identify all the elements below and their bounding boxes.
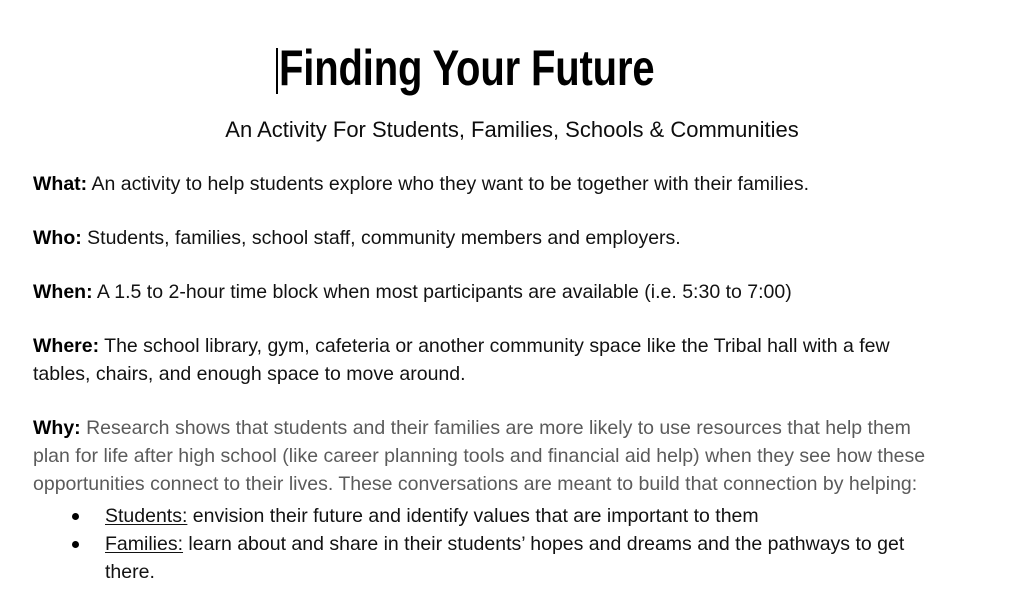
- helping-bullet-list: Students: envision their future and iden…: [33, 502, 945, 586]
- document-page: Finding Your Future An Activity For Stud…: [0, 0, 1024, 614]
- section-text-when: A 1.5 to 2-hour time block when most par…: [93, 281, 792, 303]
- section-text-why: Research shows that students and their f…: [33, 417, 925, 495]
- page-subtitle[interactable]: An Activity For Students, Families, Scho…: [0, 115, 1024, 145]
- section-label-who: Who:: [33, 227, 82, 249]
- section-who[interactable]: Who: Students, families, school staff, c…: [33, 224, 945, 252]
- page-title[interactable]: Finding Your Future: [279, 42, 654, 94]
- text-cursor-caret: [276, 48, 278, 94]
- section-label-why: Why:: [33, 417, 81, 439]
- list-item-text: learn about and share in their students’…: [105, 533, 904, 583]
- section-what[interactable]: What: An activity to help students explo…: [33, 170, 945, 198]
- list-item-term: Families:: [105, 533, 183, 555]
- section-label-where: Where:: [33, 335, 99, 357]
- section-text-what: An activity to help students explore who…: [87, 173, 809, 195]
- section-text-where: The school library, gym, cafeteria or an…: [33, 335, 890, 385]
- document-body: What: An activity to help students explo…: [33, 170, 945, 586]
- list-item[interactable]: Students: envision their future and iden…: [72, 502, 945, 530]
- section-label-what: What:: [33, 173, 87, 195]
- section-why[interactable]: Why: Research shows that students and th…: [33, 414, 945, 498]
- list-item[interactable]: Families: learn about and share in their…: [72, 530, 945, 586]
- bullet-dot-icon: [72, 541, 79, 548]
- document-title-row: Finding Your Future: [0, 42, 1024, 94]
- bullet-dot-icon: [72, 513, 79, 520]
- section-text-who: Students, families, school staff, commun…: [82, 227, 681, 249]
- section-where[interactable]: Where: The school library, gym, cafeteri…: [33, 332, 945, 388]
- list-item-text: envision their future and identify value…: [187, 505, 758, 527]
- section-label-when: When:: [33, 281, 93, 303]
- section-when[interactable]: When: A 1.5 to 2-hour time block when mo…: [33, 278, 945, 306]
- list-item-term: Students:: [105, 505, 187, 527]
